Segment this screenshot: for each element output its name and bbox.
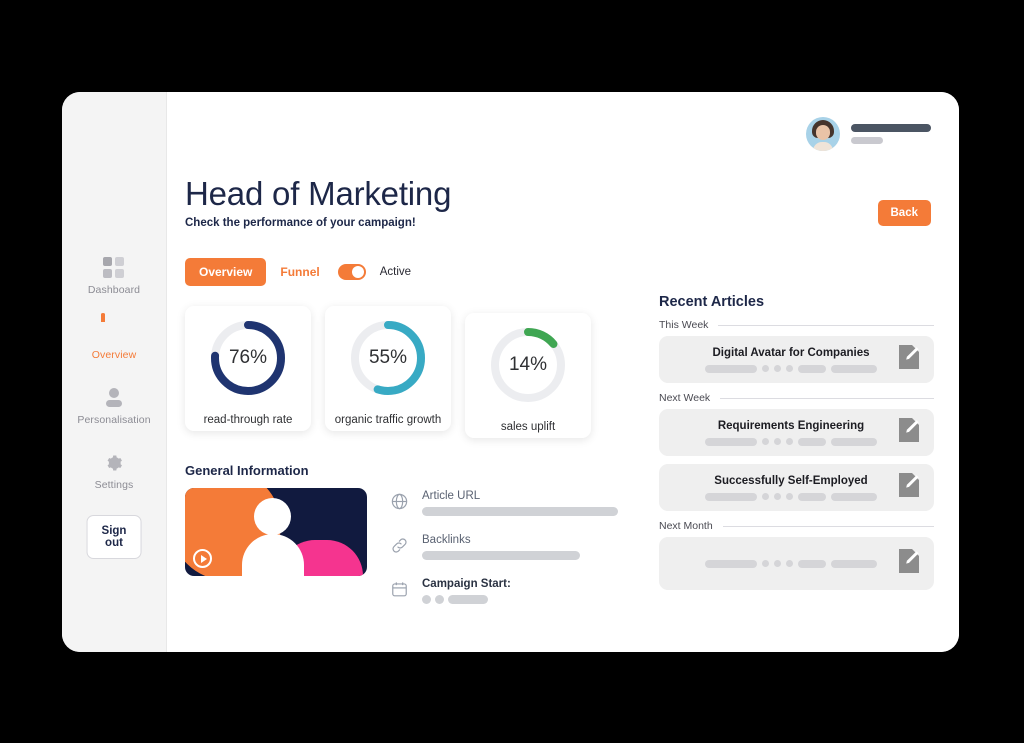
donut-sales-uplift: 14% [487, 324, 569, 406]
stat-card-sales-uplift[interactable]: 14% sales uplift [465, 313, 591, 438]
stat-label: read-through rate [204, 414, 293, 426]
sidebar-item-label: Settings [95, 479, 134, 491]
title-block: Head of Marketing Check the performance … [185, 175, 451, 229]
article-card[interactable] [659, 537, 934, 590]
tab-overview[interactable]: Overview [185, 258, 266, 286]
stat-card-read-through-rate[interactable]: 76% read-through rate [185, 306, 311, 431]
info-value-bar [422, 507, 618, 516]
article-title: Requirements Engineering [718, 420, 864, 432]
article-card[interactable]: Digital Avatar for Companies [659, 336, 934, 383]
globe-icon [389, 490, 409, 512]
stat-value: 55% [347, 317, 429, 399]
info-row-campaign-start: Campaign Start: [389, 578, 618, 604]
main-content: Back Head of Marketing Check the perform… [167, 92, 959, 652]
stat-value: 76% [207, 317, 289, 399]
stat-card-organic-traffic-growth[interactable]: 55% organic traffic growth [325, 306, 451, 431]
overview-icon [103, 322, 125, 344]
article-skeleton [705, 493, 877, 501]
user-name-placeholder [851, 124, 931, 144]
edit-icon[interactable] [897, 548, 921, 579]
user-bar [806, 117, 931, 151]
page-subtitle: Check the performance of your campaign! [185, 217, 451, 229]
article-skeleton [705, 438, 877, 446]
gear-icon [103, 452, 125, 474]
recent-articles-panel: Recent Articles This Week Digital Avatar… [659, 294, 934, 598]
link-icon [389, 534, 409, 556]
decorative-avatar-head [254, 498, 291, 535]
sidebar-item-settings[interactable]: Settings [62, 452, 166, 491]
info-value-dots [422, 595, 511, 604]
info-row-article-url: Article URL [389, 490, 618, 516]
article-card[interactable]: Requirements Engineering [659, 409, 934, 456]
play-icon[interactable] [193, 549, 212, 568]
user-name-bar [851, 124, 931, 132]
sidebar-item-dashboard[interactable]: Dashboard [62, 257, 166, 296]
donut-read-through-rate: 76% [207, 317, 289, 399]
article-skeleton [705, 365, 877, 373]
stat-label: organic traffic growth [335, 414, 442, 426]
general-information-row: Article URL Backlinks [185, 488, 618, 604]
info-list: Article URL Backlinks [389, 488, 618, 604]
info-label: Campaign Start: [422, 578, 511, 590]
article-group-label: This Week [659, 319, 708, 331]
info-label: Article URL [422, 490, 618, 502]
stat-cards: 76% read-through rate 55% organic traffi… [185, 306, 591, 431]
edit-icon[interactable] [897, 472, 921, 503]
active-toggle[interactable] [338, 264, 366, 280]
avatar[interactable] [806, 117, 840, 151]
article-title: Successfully Self-Employed [714, 475, 867, 487]
divider [718, 325, 934, 326]
article-group-header: This Week [659, 319, 934, 331]
article-skeleton [705, 560, 877, 568]
sidebar-item-personalisation[interactable]: Personalisation [62, 387, 166, 426]
info-value-bar [422, 551, 580, 560]
info-label: Backlinks [422, 534, 580, 546]
article-group-label: Next Week [659, 392, 710, 404]
sidebar: Dashboard Overview Personalisation [62, 92, 167, 652]
edit-icon[interactable] [897, 417, 921, 448]
sidebar-item-label: Personalisation [77, 414, 150, 426]
tab-funnel[interactable]: Funnel [280, 265, 319, 279]
divider [720, 398, 934, 399]
recent-articles-heading: Recent Articles [659, 294, 934, 310]
user-role-bar [851, 137, 883, 144]
divider [723, 526, 934, 527]
donut-organic-traffic-growth: 55% [347, 317, 429, 399]
grid-icon [103, 257, 125, 279]
tabs-row: Overview Funnel Active [185, 258, 411, 286]
active-toggle-label: Active [380, 266, 411, 278]
general-information-heading: General Information [185, 463, 309, 478]
article-group-header: Next Month [659, 520, 934, 532]
back-button[interactable]: Back [878, 200, 932, 226]
app-window: Dashboard Overview Personalisation [62, 92, 959, 652]
edit-icon[interactable] [897, 344, 921, 375]
person-icon [103, 387, 125, 409]
article-group-label: Next Month [659, 520, 713, 532]
stat-label: sales uplift [501, 421, 555, 433]
campaign-thumbnail[interactable] [185, 488, 367, 576]
stat-value: 14% [487, 324, 569, 406]
sidebar-item-label: Overview [92, 349, 137, 361]
sidebar-nav: Dashboard Overview Personalisation [62, 257, 166, 517]
sign-out-button[interactable]: Sign out [87, 515, 142, 559]
sidebar-item-overview[interactable]: Overview [62, 322, 166, 361]
sidebar-item-label: Dashboard [88, 284, 140, 296]
article-group-header: Next Week [659, 392, 934, 404]
info-row-backlinks: Backlinks [389, 534, 618, 560]
toggle-knob [352, 266, 364, 278]
article-card[interactable]: Successfully Self-Employed [659, 464, 934, 511]
article-title: Digital Avatar for Companies [713, 347, 870, 359]
calendar-icon [389, 578, 409, 600]
page-title: Head of Marketing [185, 175, 451, 213]
